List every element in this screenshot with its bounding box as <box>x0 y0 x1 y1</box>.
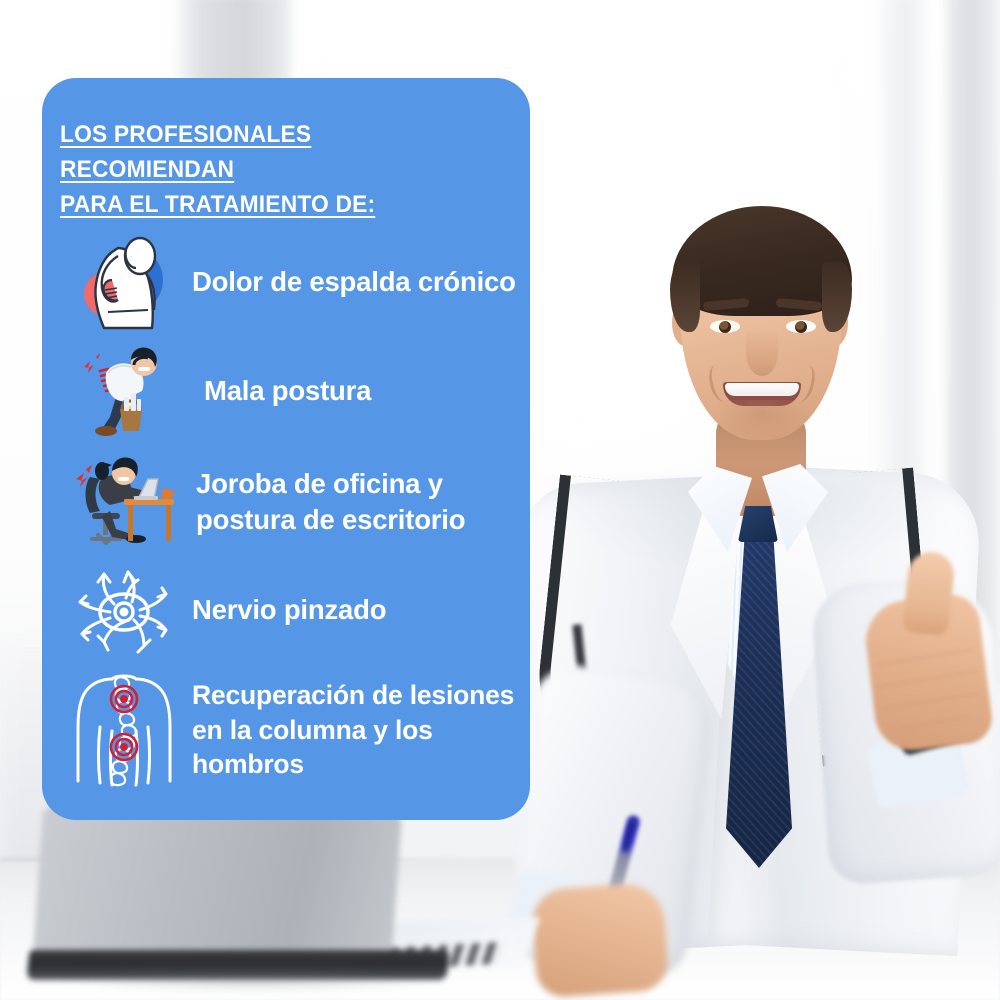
laptop <box>20 800 450 1000</box>
list-item[interactable]: Nervio pinzado <box>42 560 530 660</box>
list-item[interactable]: Joroba de oficina y postura de escritori… <box>42 444 530 560</box>
list-item-label: Recuperación de lesiones en la columna y… <box>192 678 530 781</box>
list-item-label: Joroba de oficina y postura de escritori… <box>192 466 530 538</box>
list-item-label: Dolor de espalda crónico <box>192 264 516 300</box>
desk-posture-icon <box>70 452 178 552</box>
list-item[interactable]: Mala postura <box>42 338 530 444</box>
list-item-label: Nervio pinzado <box>192 592 386 628</box>
recommendations-card: LOS PROFESIONALES RECOMIENDAN PARA EL TR… <box>42 78 530 820</box>
spine-injury-icon <box>70 680 178 780</box>
card-title-line-2: PARA EL TRATAMIENTO DE: <box>60 191 375 218</box>
card-title-line-1: LOS PROFESIONALES RECOMIENDAN <box>60 121 311 183</box>
hand-holding-pen <box>530 882 669 999</box>
thumb-finger <box>902 550 956 636</box>
bad-posture-icon <box>70 341 178 441</box>
list-item[interactable]: Recuperación de lesiones en la columna y… <box>42 660 530 800</box>
treatment-list: Dolor de espalda crónico <box>42 226 530 800</box>
laptop-lid <box>32 807 402 974</box>
doctor-photo <box>520 150 1000 940</box>
poster-root: LOS PROFESIONALES RECOMIENDAN PARA EL TR… <box>0 0 1000 1000</box>
card-title: LOS PROFESIONALES RECOMIENDAN PARA EL TR… <box>60 118 480 222</box>
chin-shading <box>716 400 808 440</box>
back-pain-icon <box>70 232 178 332</box>
laptop-shadow <box>60 972 440 990</box>
eye-right <box>786 320 816 333</box>
neuron-icon <box>70 560 178 660</box>
eye-left <box>710 320 740 333</box>
list-item-label: Mala postura <box>192 373 371 409</box>
nose <box>746 330 778 376</box>
list-item[interactable]: Dolor de espalda crónico <box>42 226 530 338</box>
